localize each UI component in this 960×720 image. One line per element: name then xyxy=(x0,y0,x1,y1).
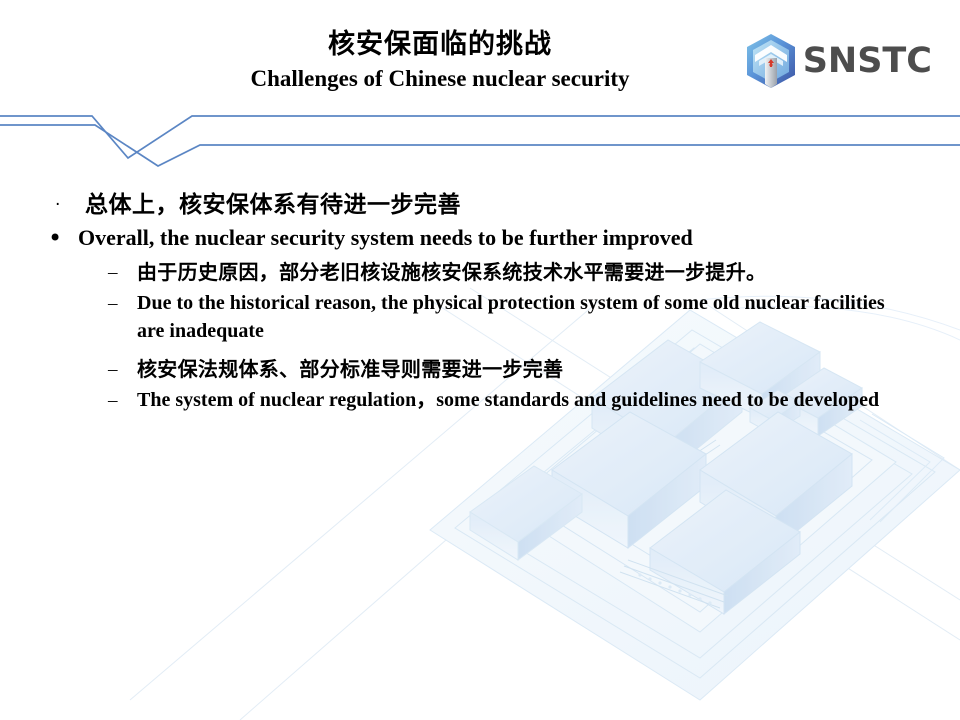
bullet-level2-en-2: – The system of nuclear regulation，some … xyxy=(0,386,960,415)
bullet-marker-dash-icon: – xyxy=(108,355,137,384)
bullet-level1-cn: · 总体上，核安保体系有待进一步完善 xyxy=(0,190,960,220)
bullet-level2-en-2-text: The system of nuclear regulation，some st… xyxy=(137,386,879,414)
slide: 核安保面临的挑战 Challenges of Chinese nuclear s… xyxy=(0,0,960,720)
bullet-level1-cn-text: 总体上，核安保体系有待进一步完善 xyxy=(85,190,461,220)
bullet-level2-cn-2-text: 核安保法规体系、部分标准导则需要进一步完善 xyxy=(137,355,563,384)
hexagon-shield-icon xyxy=(743,32,799,90)
bullet-level1-en-text: Overall, the nuclear security system nee… xyxy=(78,224,693,252)
bullet-level2-cn-1: – 由于历史原因，部分老旧核设施核安保系统技术水平需要进一步提升。 xyxy=(0,258,960,287)
page-title-en: Challenges of Chinese nuclear security xyxy=(150,64,730,94)
slide-body: · 总体上，核安保体系有待进一步完善 • Overall, the nuclea… xyxy=(0,190,960,418)
snstc-logo[interactable]: SNSTC xyxy=(743,32,932,90)
slide-header: 核安保面临的挑战 Challenges of Chinese nuclear s… xyxy=(0,0,960,175)
page-title-cn: 核安保面临的挑战 xyxy=(150,28,730,62)
bullet-level2-cn-1-text: 由于历史原因，部分老旧核设施核安保系统技术水平需要进一步提升。 xyxy=(137,258,766,287)
bullet-marker-dot-icon: · xyxy=(55,190,85,220)
bullet-marker-dash-icon: – xyxy=(108,258,137,287)
bullet-level2-en-1: – Due to the historical reason, the phys… xyxy=(0,289,960,345)
bullet-marker-dash-icon: – xyxy=(108,289,137,318)
bullet-marker-dash-icon: – xyxy=(108,386,137,415)
bullet-level2-cn-2: – 核安保法规体系、部分标准导则需要进一步完善 xyxy=(0,355,960,384)
bullet-marker-dot-icon: • xyxy=(48,224,78,252)
bullet-level2-en-1-text: Due to the historical reason, the physic… xyxy=(137,289,889,345)
logo-wordmark: SNSTC xyxy=(803,41,932,81)
page-title: 核安保面临的挑战 Challenges of Chinese nuclear s… xyxy=(150,28,730,94)
bullet-level1-en: • Overall, the nuclear security system n… xyxy=(0,224,960,252)
